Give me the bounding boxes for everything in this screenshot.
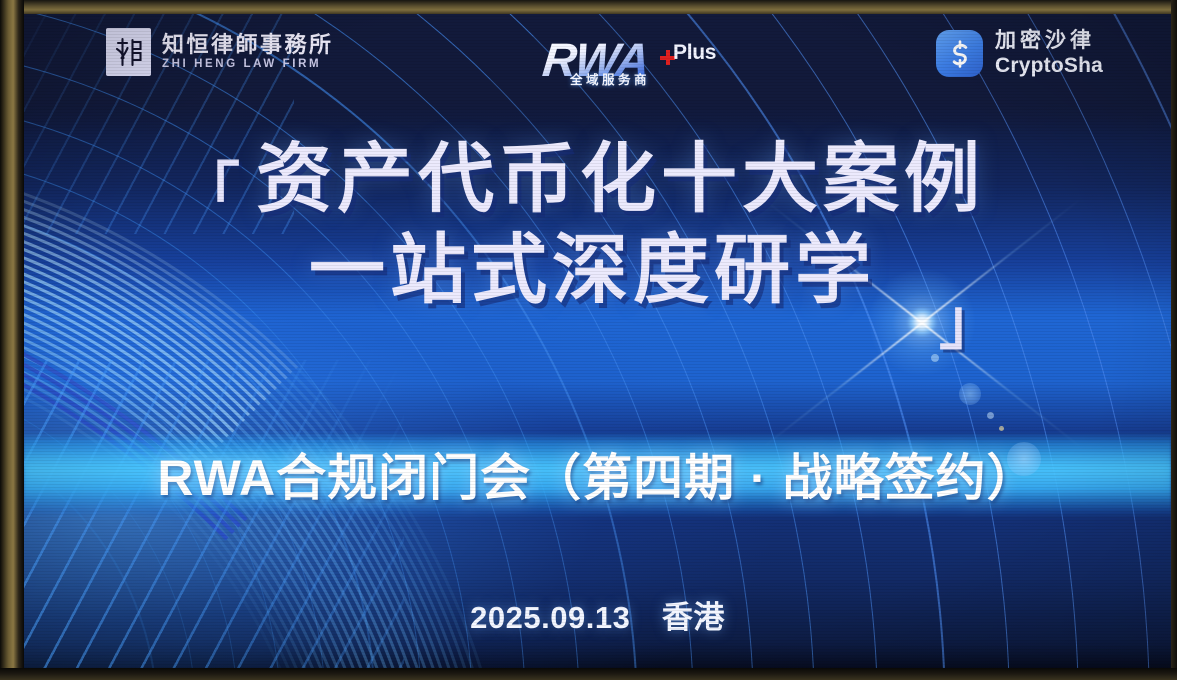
rwa-plus-label: Plus	[673, 41, 716, 65]
title-bracket-close: 」	[939, 292, 1001, 354]
led-screen: 知恒律師事務所 ZHI HENG LAW FIRM RWA Plus 全域服务商	[24, 14, 1171, 670]
logo-cryptosha[interactable]: 加密沙律 CryptoSha	[936, 30, 1103, 77]
logo-zhi-heng[interactable]: 知恒律師事務所 ZHI HENG LAW FIRM	[106, 28, 334, 76]
logo-rwa-plus[interactable]: RWA Plus 全域服务商	[543, 36, 743, 92]
title-bracket-open: 「	[178, 162, 240, 224]
bokeh-dot	[959, 383, 981, 405]
cryptosha-s-monogram-icon	[936, 30, 983, 77]
rwa-tagline-cn: 全域服务商	[570, 69, 650, 88]
screen-bezel-left	[0, 0, 24, 680]
bokeh-dot	[931, 354, 939, 362]
zhi-heng-wordmark: 知恒律師事務所 ZHI HENG LAW FIRM	[162, 34, 334, 71]
bokeh-dot	[987, 412, 994, 419]
event-date-location: 2025.09.13 香港	[24, 592, 1171, 637]
main-title: 「 资产代币化十大案例 一站式深度研学 」	[24, 140, 1171, 311]
screen-bezel-right	[1171, 0, 1177, 680]
logo-row: 知恒律師事務所 ZHI HENG LAW FIRM RWA Plus 全域服务商	[24, 14, 1171, 122]
photographed-screen: 知恒律師事務所 ZHI HENG LAW FIRM RWA Plus 全域服务商	[0, 0, 1177, 680]
zhi-heng-name-en: ZHI HENG LAW FIRM	[162, 59, 334, 71]
event-subtitle: RWA合规闭门会（第四期 · 战略签约）	[24, 438, 1171, 510]
cryptosha-name-en: CryptoSha	[995, 55, 1103, 77]
bokeh-dot	[999, 426, 1004, 431]
screen-bezel-bottom	[0, 668, 1177, 680]
zhi-heng-seal-icon	[106, 28, 151, 76]
cryptosha-wordmark: 加密沙律 CryptoSha	[995, 30, 1103, 76]
zhi-heng-name-cn: 知恒律師事務所	[162, 34, 334, 56]
cryptosha-name-cn: 加密沙律	[995, 30, 1103, 52]
